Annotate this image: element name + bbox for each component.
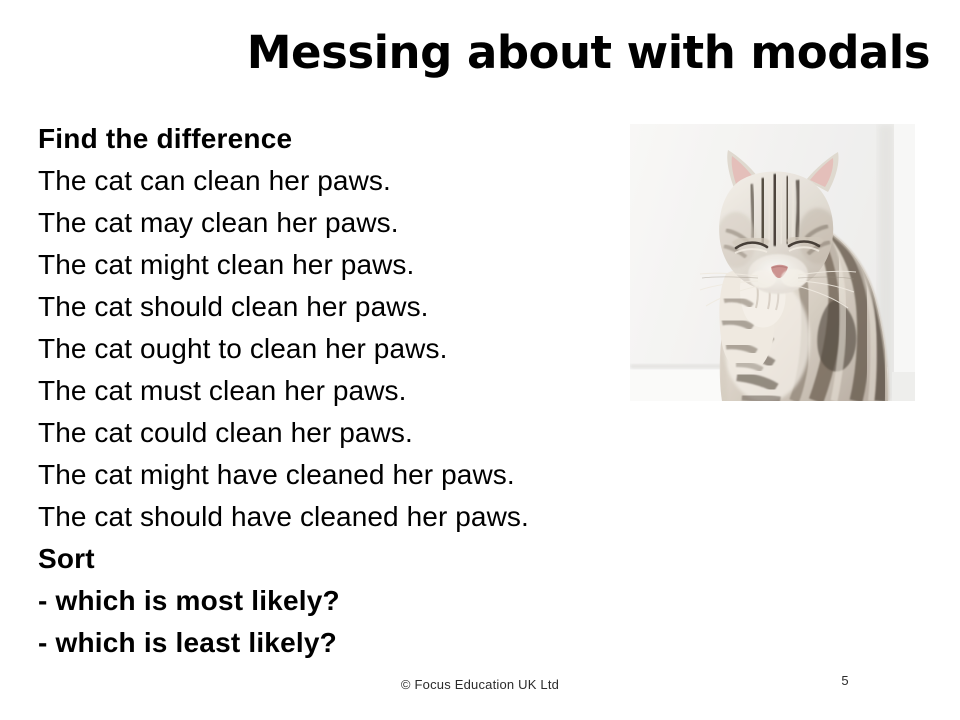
body-text-block: Find the difference The cat can clean he… — [38, 118, 638, 664]
slide-canvas: Messing about with modals Find the diffe… — [0, 0, 960, 720]
body-line-could: The cat could clean her paws. — [38, 412, 638, 454]
footer-copyright: © Focus Education UK Ltd — [0, 676, 960, 694]
body-line-can: The cat can clean her paws. — [38, 160, 638, 202]
body-line-ought-to: The cat ought to clean her paws. — [38, 328, 638, 370]
body-line-find-the-difference: Find the difference — [38, 118, 638, 160]
page-number: 5 — [820, 672, 870, 690]
body-line-might: The cat might clean her paws. — [38, 244, 638, 286]
body-line-sort: Sort — [38, 538, 638, 580]
body-line-must: The cat must clean her paws. — [38, 370, 638, 412]
body-line-should: The cat should clean her paws. — [38, 286, 638, 328]
body-line-might-have: The cat might have cleaned her paws. — [38, 454, 638, 496]
body-line-should-have: The cat should have cleaned her paws. — [38, 496, 638, 538]
cat-washing-face-photo — [630, 124, 915, 401]
body-line-least-likely: - which is least likely? — [38, 622, 638, 664]
body-line-most-likely: - which is most likely? — [38, 580, 638, 622]
page-title: Messing about with modals — [40, 28, 930, 78]
body-line-may: The cat may clean her paws. — [38, 202, 638, 244]
